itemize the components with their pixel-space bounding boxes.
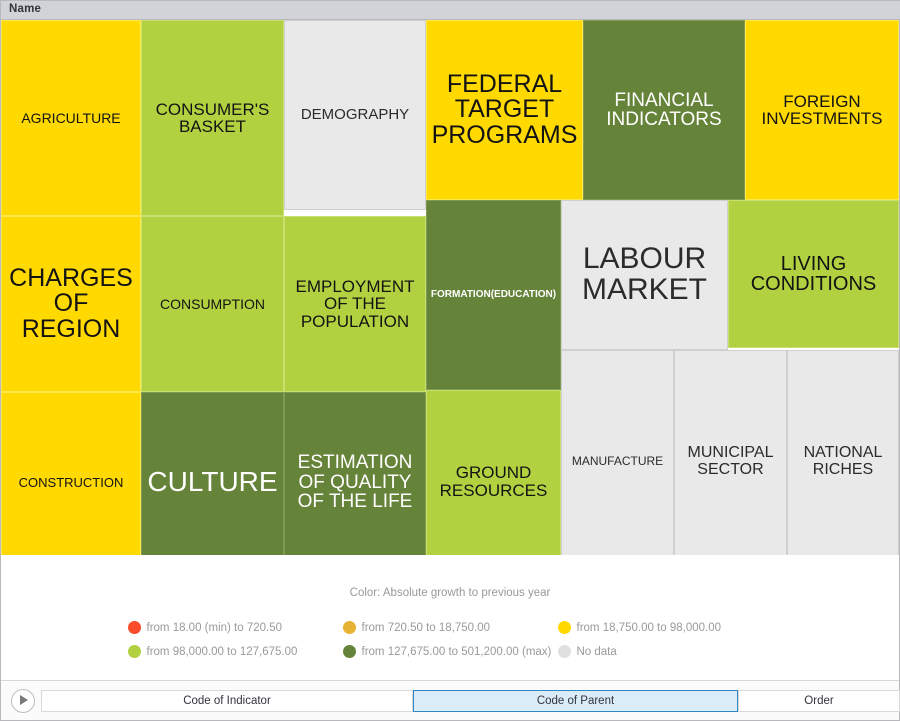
treemap-tile-label: LABOUR MARKET bbox=[562, 244, 727, 305]
treemap-tile-label: FINANCIAL INDICATORS bbox=[584, 91, 744, 130]
legend-label: from 127,675.00 to 501,200.00 (max) bbox=[362, 646, 552, 658]
treemap-canvas[interactable]: AGRICULTURECONSUMER'S BASKETDEMOGRAPHYFE… bbox=[1, 20, 899, 555]
treemap-tile-label: ESTIMATION OF QUALITY OF THE LIFE bbox=[285, 453, 425, 511]
legend-item[interactable]: from 720.50 to 18,750.00 bbox=[343, 621, 558, 634]
treemap-tile[interactable]: MUNICIPAL SECTOR bbox=[674, 350, 787, 573]
legend-items: from 18.00 (min) to 720.50from 720.50 to… bbox=[1, 621, 899, 658]
treemap-tile-label: CULTURE bbox=[145, 468, 279, 497]
legend-swatch bbox=[343, 645, 356, 658]
treemap-tile-label: LIVING CONDITIONS bbox=[729, 254, 898, 295]
legend-item[interactable]: from 18,750.00 to 98,000.00 bbox=[558, 621, 773, 634]
treemap-tile[interactable]: CHARGES OF REGION bbox=[1, 216, 141, 392]
treemap-tile-label: MANUFACTURE bbox=[570, 455, 665, 467]
column-header-bar: Name bbox=[1, 1, 900, 20]
treemap-tile[interactable]: ESTIMATION OF QUALITY OF THE LIFE bbox=[284, 392, 426, 573]
treemap-tile[interactable]: FOREIGN INVESTMENTS bbox=[745, 20, 899, 200]
treemap-tile[interactable]: FORMATION(EDUCATION) bbox=[426, 200, 561, 390]
treemap-tile-label: EMPLOYMENT OF THE POPULATION bbox=[285, 278, 425, 330]
treemap-tile[interactable]: AGRICULTURE bbox=[1, 20, 141, 216]
treemap-tile[interactable]: DEMOGRAPHY bbox=[284, 20, 426, 210]
treemap-tile-label: GROUND RESOURCES bbox=[427, 464, 560, 499]
legend-swatch bbox=[558, 621, 571, 634]
legend-swatch bbox=[558, 645, 571, 658]
bottom-toolbar: Code of Indicator Code of Parent Order bbox=[1, 680, 899, 720]
treemap-tile-label: FOREIGN INVESTMENTS bbox=[746, 93, 898, 128]
legend-item[interactable]: from 127,675.00 to 501,200.00 (max) bbox=[343, 645, 558, 658]
treemap-tile[interactable]: GROUND RESOURCES bbox=[426, 390, 561, 573]
treemap-tile-label: FEDERAL TARGET PROGRAMS bbox=[427, 72, 582, 149]
treemap-tile[interactable]: CULTURE bbox=[141, 392, 284, 573]
treemap-tile-label: NATIONAL RICHES bbox=[788, 445, 898, 478]
treemap-tile[interactable]: CONSTRUCTION bbox=[1, 392, 141, 573]
treemap-tile-label: CONSUMPTION bbox=[158, 297, 267, 311]
legend-item[interactable]: from 98,000.00 to 127,675.00 bbox=[128, 645, 343, 658]
legend-caption: Color: Absolute growth to previous year bbox=[1, 587, 899, 599]
treemap-tile[interactable]: LIVING CONDITIONS bbox=[728, 200, 899, 348]
treemap-tile[interactable]: MANUFACTURE bbox=[561, 350, 674, 573]
treemap-tile[interactable]: FINANCIAL INDICATORS bbox=[583, 20, 745, 200]
treemap-tile-label: MUNICIPAL SECTOR bbox=[675, 445, 786, 478]
legend-panel: Color: Absolute growth to previous year … bbox=[1, 555, 899, 681]
legend-swatch bbox=[128, 621, 141, 634]
legend-label: from 18,750.00 to 98,000.00 bbox=[577, 622, 722, 634]
play-icon[interactable] bbox=[11, 689, 35, 713]
treemap-tile-label: AGRICULTURE bbox=[19, 111, 122, 125]
tab-code-of-parent[interactable]: Code of Parent bbox=[413, 690, 738, 712]
legend-swatch bbox=[343, 621, 356, 634]
legend-label: from 98,000.00 to 127,675.00 bbox=[147, 646, 298, 658]
legend-label: from 18.00 (min) to 720.50 bbox=[147, 622, 283, 634]
treemap-tile-label: CONSUMER'S BASKET bbox=[142, 101, 283, 136]
treemap-tile[interactable]: CONSUMER'S BASKET bbox=[141, 20, 284, 216]
treemap-tile[interactable]: CONSUMPTION bbox=[141, 216, 284, 392]
legend-label: from 720.50 to 18,750.00 bbox=[362, 622, 491, 634]
treemap-app: Name AGRICULTURECONSUMER'S BASKETDEMOGRA… bbox=[0, 0, 900, 721]
legend-label: No data bbox=[577, 646, 617, 658]
treemap-tile-label: DEMOGRAPHY bbox=[299, 107, 411, 122]
treemap-tile[interactable]: EMPLOYMENT OF THE POPULATION bbox=[284, 216, 426, 392]
treemap-tile[interactable]: NATIONAL RICHES bbox=[787, 350, 899, 573]
tab-code-of-indicator[interactable]: Code of Indicator bbox=[41, 690, 413, 712]
legend-item[interactable]: No data bbox=[558, 645, 773, 658]
treemap-tile-label: CONSTRUCTION bbox=[17, 476, 126, 489]
treemap-tile[interactable]: FEDERAL TARGET PROGRAMS bbox=[426, 20, 583, 200]
legend-item[interactable]: from 18.00 (min) to 720.50 bbox=[128, 621, 343, 634]
treemap-tile-label: FORMATION(EDUCATION) bbox=[429, 290, 558, 300]
column-header-name: Name bbox=[9, 3, 41, 15]
treemap-tile-label: CHARGES OF REGION bbox=[2, 266, 140, 343]
legend-swatch bbox=[128, 645, 141, 658]
treemap-tile[interactable]: LABOUR MARKET bbox=[561, 200, 728, 350]
tab-order[interactable]: Order bbox=[738, 690, 900, 712]
